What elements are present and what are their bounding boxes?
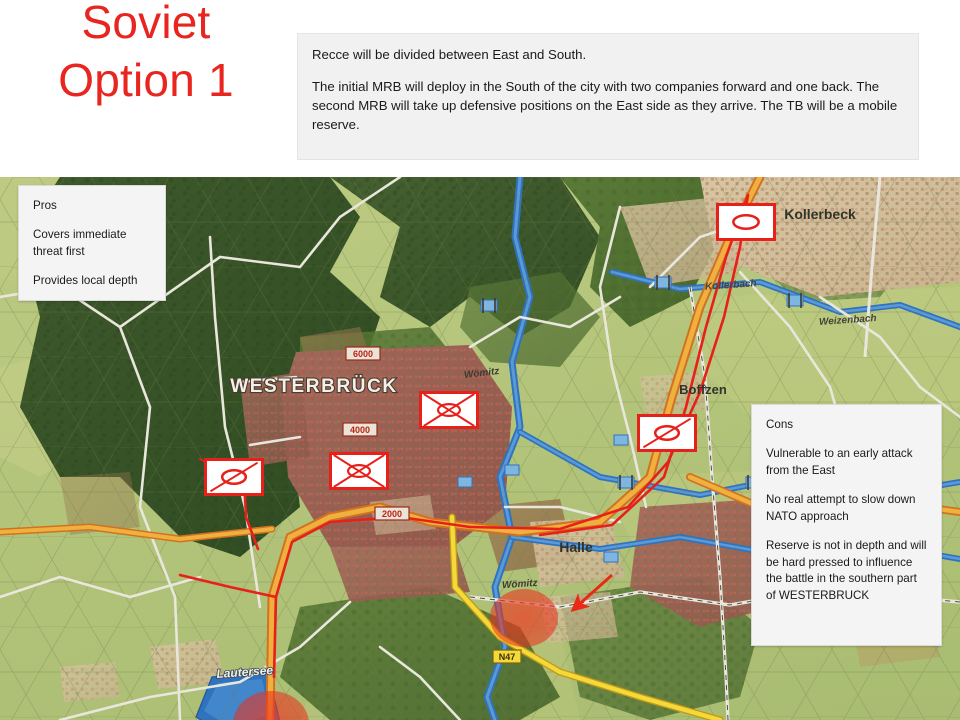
label-boffzen: Boffzen bbox=[679, 382, 727, 397]
svg-text:4000: 4000 bbox=[350, 425, 370, 435]
mechanized-infantry-symbol-icon bbox=[422, 394, 476, 426]
page-title-line-2: Option 1 bbox=[58, 52, 234, 110]
svg-text:N47: N47 bbox=[499, 652, 516, 662]
reconnaissance-symbol-icon bbox=[640, 417, 694, 449]
road-shield-6000: 6000 bbox=[346, 347, 380, 360]
svg-text:2000: 2000 bbox=[382, 509, 402, 519]
tank-battalion-counter[interactable] bbox=[716, 203, 776, 241]
pros-item-1: Covers immediate threat first bbox=[33, 227, 151, 260]
cons-item-1: Vulnerable to an early attack from the E… bbox=[766, 446, 927, 479]
label-westerbruck: WESTERBRÜCK bbox=[230, 376, 398, 397]
recce-counter-east[interactable] bbox=[637, 414, 697, 452]
cons-item-3: Reserve is not in depth and will be hard… bbox=[766, 538, 927, 604]
armor-symbol-icon bbox=[719, 206, 773, 238]
plan-description-box: Recce will be divided between East and S… bbox=[297, 33, 919, 160]
page-title: Soviet Option 1 bbox=[0, 0, 292, 144]
motor-rifle-company-counter-city[interactable] bbox=[419, 391, 479, 429]
cons-callout: Cons Vulnerable to an early attack from … bbox=[751, 404, 942, 646]
pros-heading: Pros bbox=[33, 198, 151, 214]
plan-description-paragraph-1: Recce will be divided between East and S… bbox=[312, 45, 904, 64]
objective-zone-city-east bbox=[490, 589, 558, 647]
road-shield-4000: 4000 bbox=[343, 423, 377, 436]
label-halle: Halle bbox=[559, 539, 593, 555]
cons-heading: Cons bbox=[766, 417, 927, 433]
road-shield-n47: N47 bbox=[493, 650, 521, 663]
road-shield-2000: 2000 bbox=[375, 507, 409, 520]
mechanized-infantry-symbol-icon bbox=[332, 455, 386, 487]
page-title-line-1: Soviet bbox=[81, 0, 210, 52]
pros-callout: Pros Covers immediate threat first Provi… bbox=[18, 185, 166, 301]
motor-rifle-company-counter-south[interactable] bbox=[329, 452, 389, 490]
reconnaissance-symbol-icon bbox=[207, 461, 261, 493]
label-kollerbeck: Kollerbeck bbox=[784, 206, 856, 222]
plan-description-paragraph-2: The initial MRB will deploy in the South… bbox=[312, 77, 904, 134]
pros-item-2: Provides local depth bbox=[33, 273, 151, 289]
svg-text:6000: 6000 bbox=[353, 349, 373, 359]
recce-counter-south[interactable] bbox=[204, 458, 264, 496]
cons-item-2: No real attempt to slow down NATO approa… bbox=[766, 492, 927, 525]
